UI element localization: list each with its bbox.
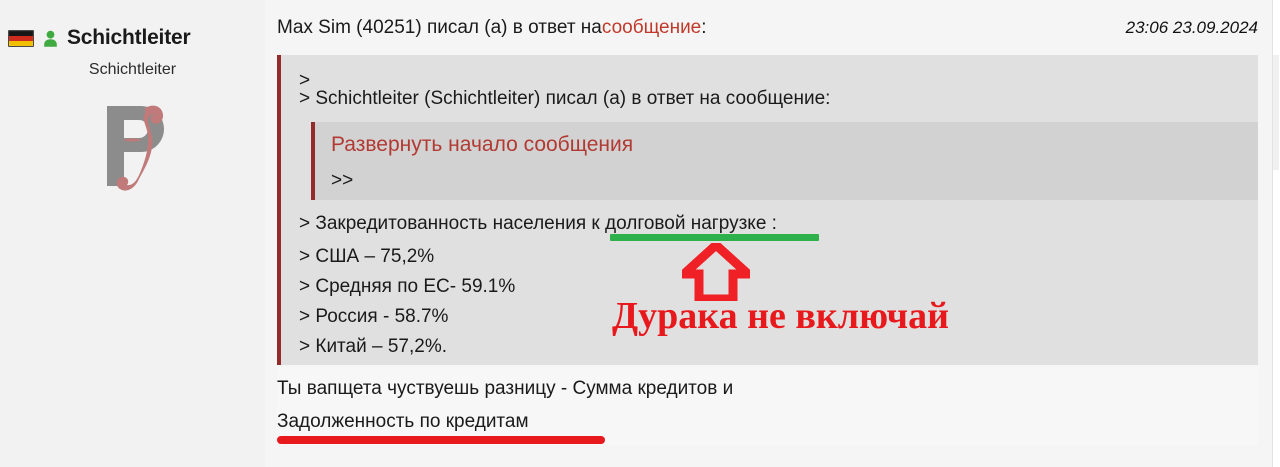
page-scrollbar[interactable] xyxy=(1272,0,1280,467)
quote-line-empty: > xyxy=(281,55,1258,89)
quote-stats-list: > Закредитованность населения к долговой… xyxy=(281,200,1258,367)
stat-line: > США – 75,2% xyxy=(281,247,1258,277)
post-header-prefix: Max Sim (40251) писал (а) в ответ на xyxy=(277,17,602,39)
post-content-column: Max Sim (40251) писал (а) в ответ на соо… xyxy=(265,0,1280,467)
author-name[interactable]: Schichtleiter xyxy=(67,26,190,50)
expand-message-link[interactable]: Развернуть начало сообщения xyxy=(315,134,1258,155)
annotation-caption: Дурака не включай xyxy=(612,297,949,335)
forum-post: Schichtleiter Schichtleiter Max Sim (402… xyxy=(0,0,1280,467)
stat-line: > Китай – 57,2%. xyxy=(281,337,1258,367)
quote-line-attribution: > Schichtleiter (Schichtleiter) писал (а… xyxy=(281,89,1258,122)
page-scrollbar-thumb[interactable] xyxy=(1273,55,1279,170)
quoted-message-link[interactable]: сообщение xyxy=(602,17,701,39)
quote-block-outer: > > Schichtleiter (Schichtleiter) писал … xyxy=(277,55,1258,365)
quote-inner-marker: >> xyxy=(315,155,1258,190)
post-timestamp: 23:06 23.09.2024 xyxy=(1126,18,1258,38)
user-online-icon xyxy=(43,30,58,47)
post-header-suffix: : xyxy=(701,17,706,39)
post-body-line: Ты вапщета чуствуешь разницу - Сумма кре… xyxy=(277,379,1258,412)
avatar[interactable] xyxy=(85,96,181,192)
german-flag-icon xyxy=(8,30,34,47)
author-rank: Schichtleiter xyxy=(0,61,265,79)
quote-block-inner: Развернуть начало сообщения >> xyxy=(311,122,1258,200)
post-body: Ты вапщета чуствуешь разницу - Сумма кре… xyxy=(277,367,1258,445)
red-up-arrow-icon xyxy=(682,243,750,301)
red-underline-bar xyxy=(277,436,605,444)
stat-line: > Закредитованность населения к долговой… xyxy=(281,214,1258,247)
author-header-row: Schichtleiter xyxy=(0,24,265,52)
green-highlight-bar xyxy=(610,234,819,241)
post-header: Max Sim (40251) писал (а) в ответ на соо… xyxy=(265,0,1280,55)
post-author-column: Schichtleiter Schichtleiter xyxy=(0,0,265,467)
